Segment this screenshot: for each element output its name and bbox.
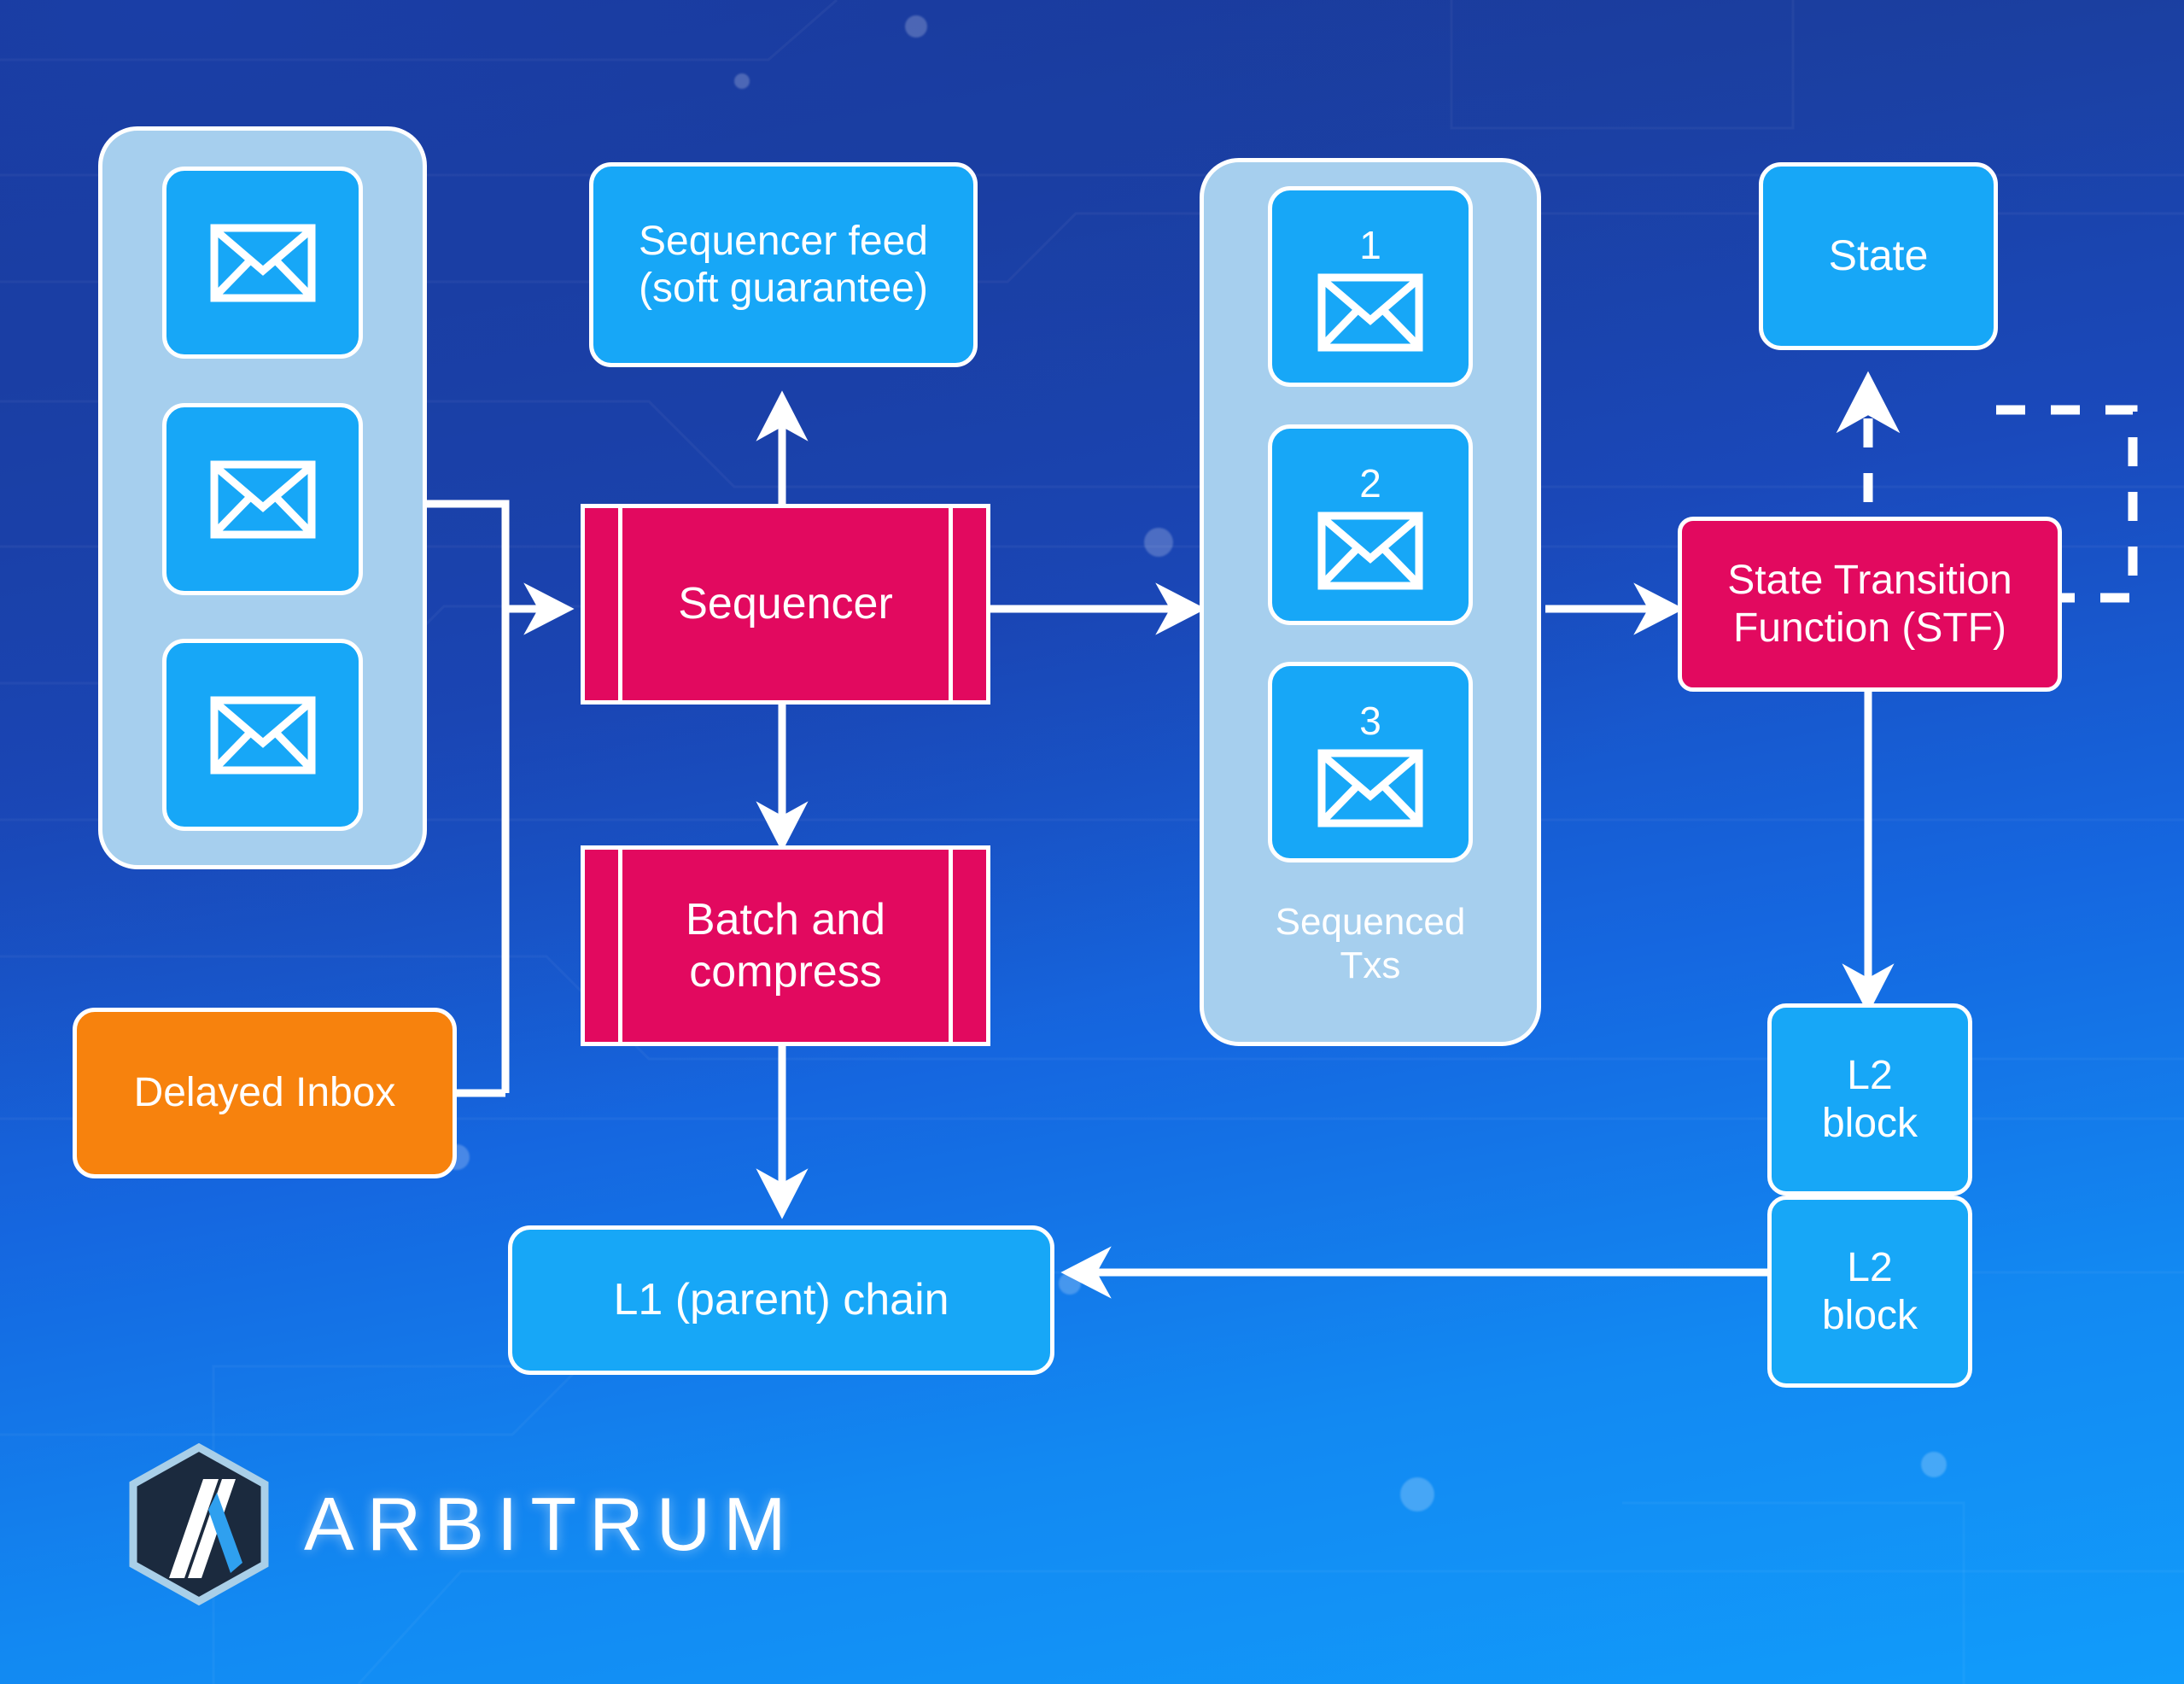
- process-rail-right: [949, 845, 953, 1046]
- sequencer-label: Sequencer: [581, 504, 990, 705]
- background-dot: [1059, 1272, 1081, 1295]
- envelope-icon: [210, 460, 316, 539]
- edge-inbox-to-sequencer: [427, 504, 505, 1093]
- envelope-icon: [1317, 749, 1423, 827]
- sequenced-tx-item[interactable]: 3: [1268, 662, 1473, 862]
- sequenced-tx-item[interactable]: 2: [1268, 424, 1473, 625]
- background-dot: [905, 15, 927, 38]
- sequenced-tx-number: 1: [1359, 222, 1381, 268]
- state-transition-function-node[interactable]: State Transition Function (STF): [1678, 517, 2062, 692]
- sequencer-node[interactable]: Sequencer: [581, 504, 990, 705]
- batch-and-compress-node[interactable]: Batch and compress: [581, 845, 990, 1046]
- state-node[interactable]: State: [1759, 162, 1998, 350]
- l2-block-node[interactable]: L2 block: [1767, 1196, 1972, 1388]
- envelope-icon: [1317, 273, 1423, 352]
- batch-and-compress-label: Batch and compress: [581, 845, 990, 1046]
- sequenced-tx-item[interactable]: 1: [1268, 186, 1473, 387]
- diagram-canvas: Delayed Inbox Sequencer feed (soft guara…: [0, 0, 2184, 1684]
- arbitrum-wordmark: ARBITRUM: [304, 1481, 799, 1568]
- arbitrum-logo: ARBITRUM: [126, 1443, 799, 1605]
- sequencer-feed-node[interactable]: Sequencer feed (soft guarantee): [589, 162, 978, 367]
- envelope-icon: [1317, 512, 1423, 590]
- delayed-inbox-node[interactable]: Delayed Inbox: [73, 1008, 457, 1178]
- sequenced-txs-label: Sequenced Txs: [1200, 901, 1541, 987]
- background-dot: [1921, 1452, 1947, 1477]
- inbox-message-item[interactable]: [162, 403, 363, 595]
- sequenced-tx-number: 2: [1359, 460, 1381, 506]
- inbox-message-item[interactable]: [162, 639, 363, 831]
- background-dot: [1144, 528, 1173, 557]
- inbox-message-item[interactable]: [162, 167, 363, 359]
- background-dot: [1400, 1477, 1434, 1512]
- l2-block-node[interactable]: L2 block: [1767, 1003, 1972, 1196]
- arbitrum-hexagon-logo-icon: [126, 1443, 272, 1605]
- sequenced-tx-number: 3: [1359, 698, 1381, 744]
- l1-parent-chain-node[interactable]: L1 (parent) chain: [508, 1225, 1054, 1375]
- process-rail-right: [949, 504, 953, 705]
- background-dot: [734, 73, 750, 89]
- process-rail-left: [618, 504, 622, 705]
- envelope-icon: [210, 224, 316, 302]
- envelope-icon: [210, 696, 316, 775]
- process-rail-left: [618, 845, 622, 1046]
